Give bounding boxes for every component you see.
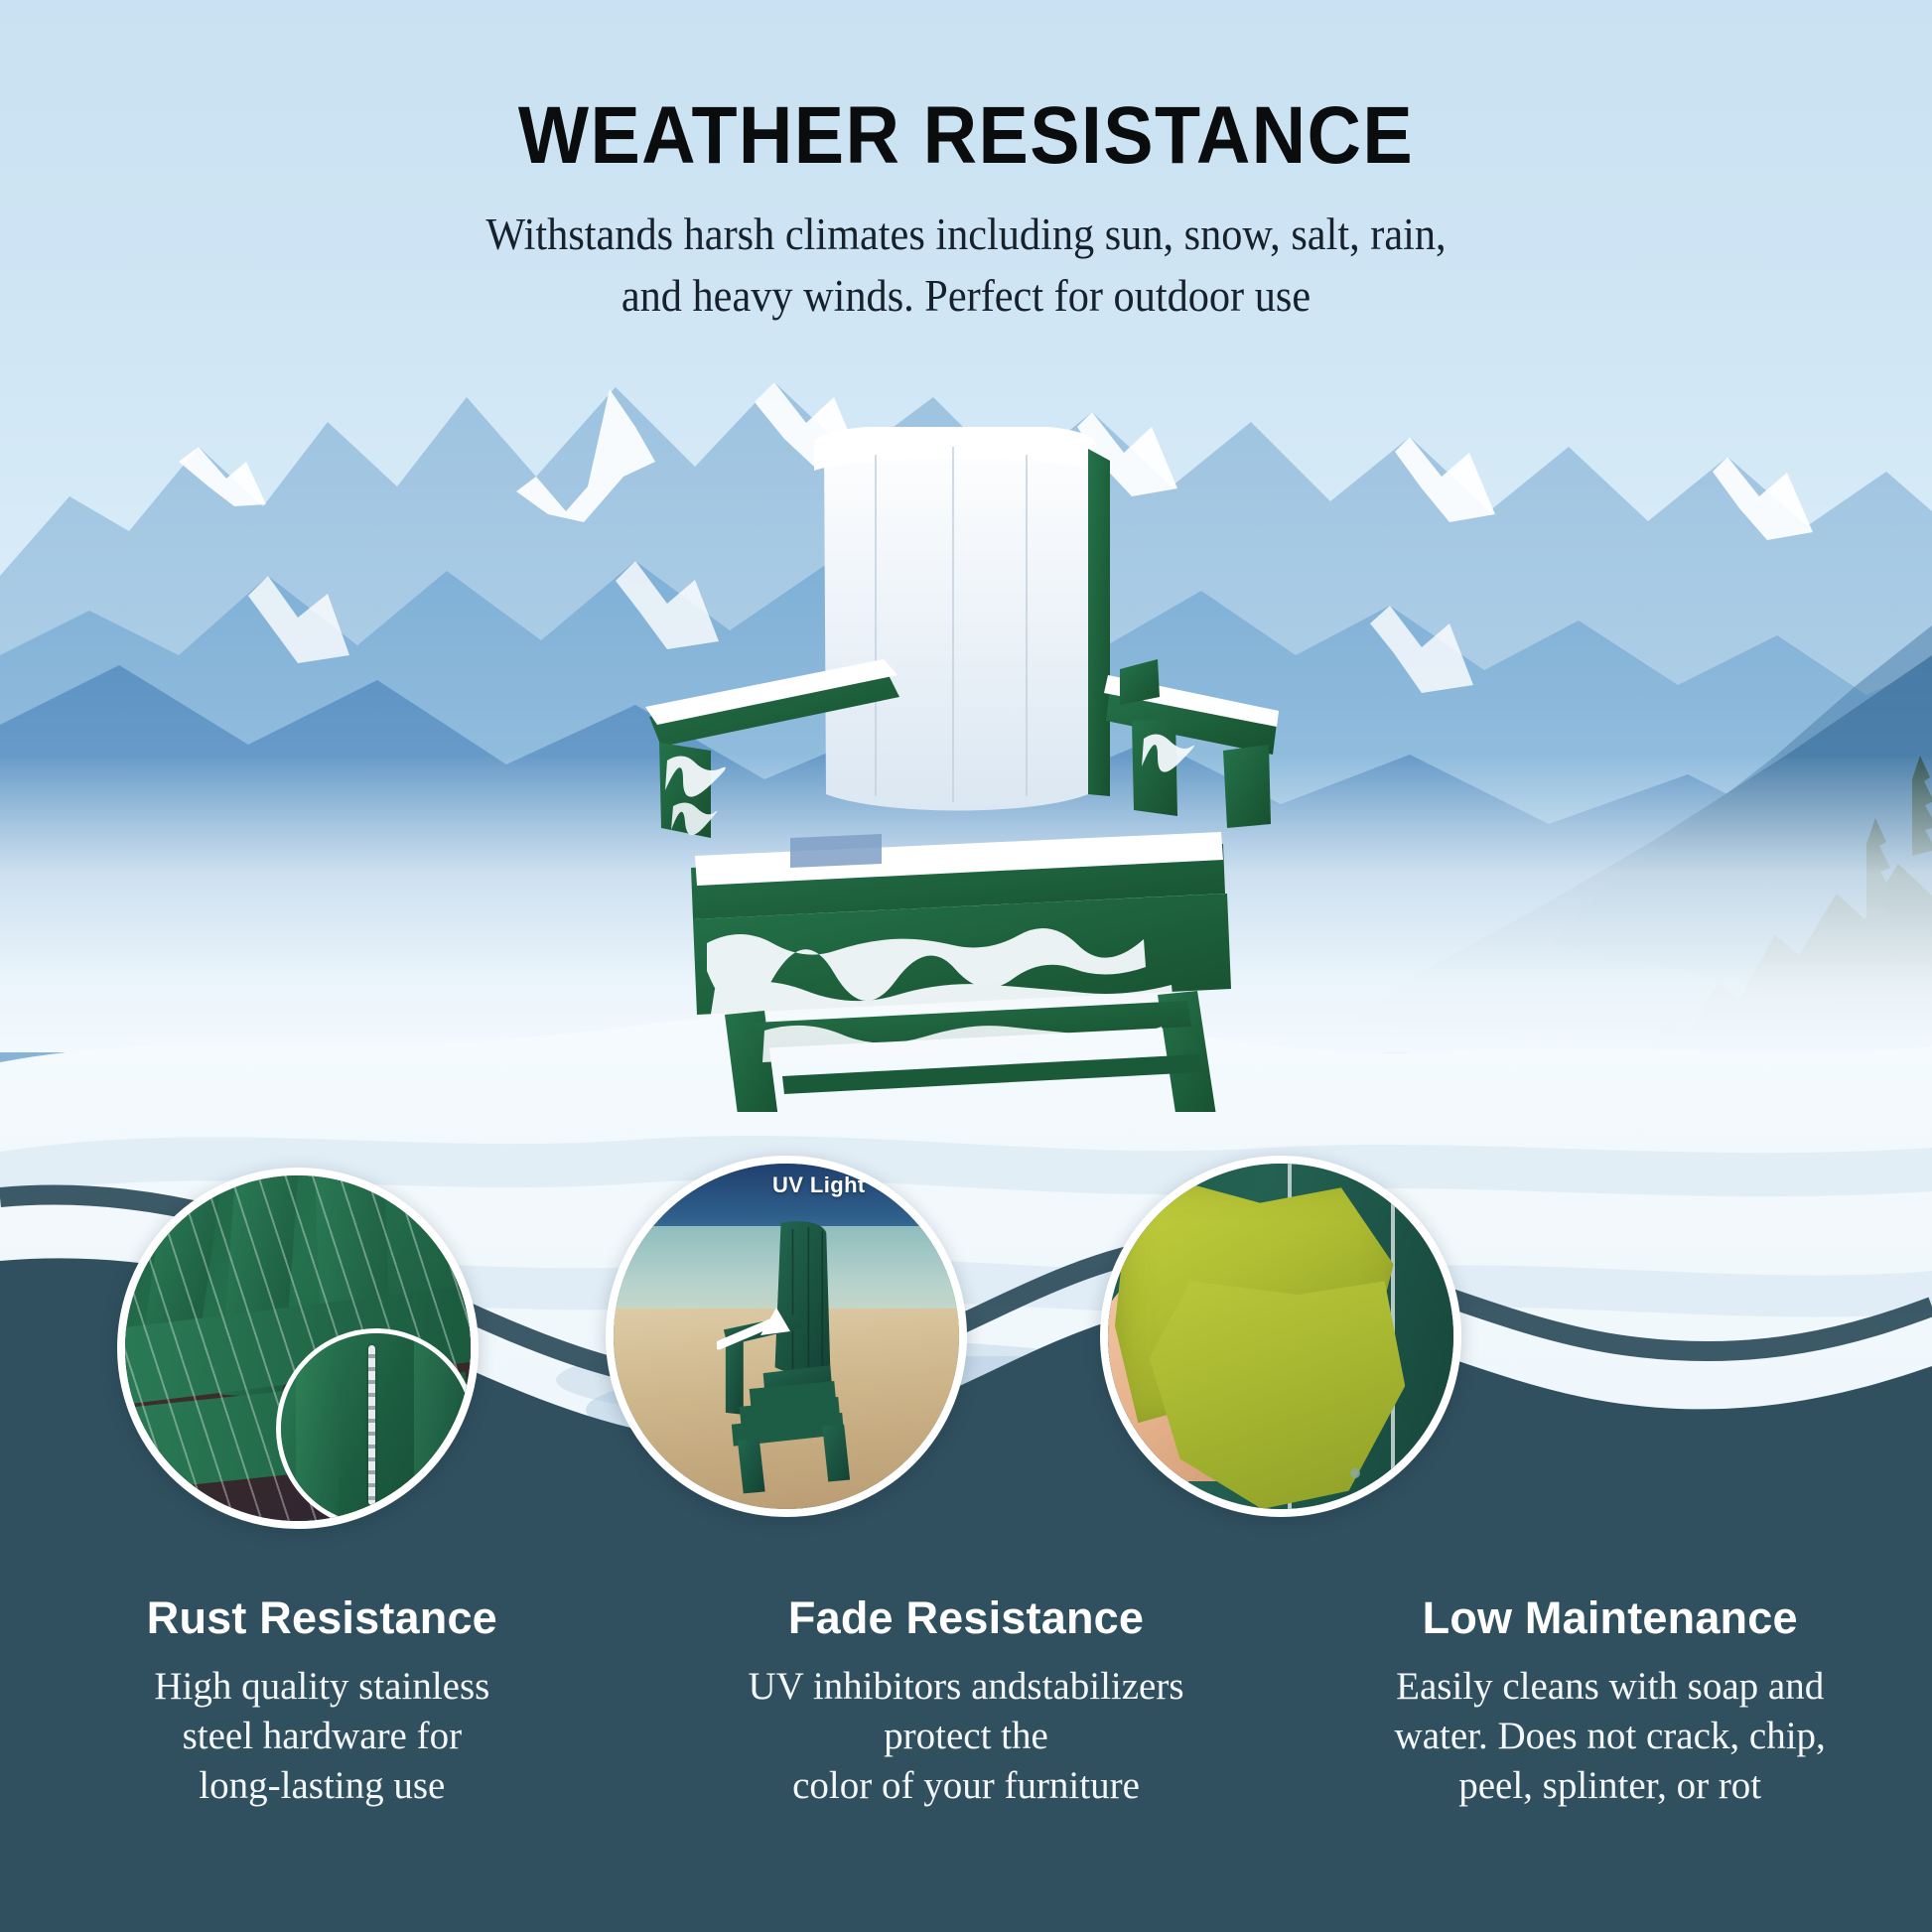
beach-chair-uv-icon: UV Light <box>614 1164 959 1509</box>
feature-title: Low Maintenance <box>1321 1592 1898 1644</box>
feature-description: UV inhibitors andstabilizers protect the… <box>678 1662 1255 1811</box>
feature-image-low-maintenance <box>1100 1156 1461 1517</box>
subtitle-line-2: and heavy winds. Perfect for outdoor use <box>58 265 1873 327</box>
feature-desc-line-1: Easily cleans with soap and <box>1321 1662 1898 1712</box>
feature-title: Rust Resistance <box>34 1592 611 1644</box>
feature-desc-line-3: long-lasting use <box>34 1761 611 1811</box>
infographic-canvas: WEATHER RESISTANCE Withstands harsh clim… <box>0 0 1932 1932</box>
feature-image-fade-resistance: UV Light <box>606 1156 967 1517</box>
hand-wiping-cloth-icon <box>1108 1164 1453 1509</box>
feature-desc-line-3: color of your furniture <box>678 1761 1255 1811</box>
feature-card-low-maintenance: Low Maintenance Easily cleans with soap … <box>1288 1592 1932 1811</box>
feature-list: Rust Resistance High quality stainless s… <box>0 1592 1932 1811</box>
page-title: WEATHER RESISTANCE <box>77 0 1855 178</box>
feature-card-fade-resistance: Fade Resistance UV inhibitors andstabili… <box>644 1592 1289 1811</box>
feature-card-rust-resistance: Rust Resistance High quality stainless s… <box>0 1592 644 1811</box>
uv-arrow-icon <box>717 1302 802 1353</box>
feature-desc-line-1: High quality stainless <box>34 1662 611 1712</box>
feature-desc-line-3: peel, splinter, or rot <box>1321 1761 1898 1811</box>
feature-desc-line-2: steel hardware for <box>34 1712 611 1761</box>
feature-description: Easily cleans with soap and water. Does … <box>1321 1662 1898 1811</box>
feature-title: Fade Resistance <box>678 1592 1255 1644</box>
feature-desc-line-1: UV inhibitors andstabilizers <box>678 1662 1255 1712</box>
stainless-chain-inset-icon <box>276 1328 477 1529</box>
feature-image-rust-resistance <box>117 1168 479 1529</box>
feature-desc-line-2: water. Does not crack, chip, <box>1321 1712 1898 1761</box>
green-beach-chair-shape <box>703 1219 883 1495</box>
feature-desc-line-2: protect the <box>678 1712 1255 1761</box>
subtitle-line-1: Withstands harsh climates including sun,… <box>58 204 1873 265</box>
uv-light-label: UV Light <box>772 1173 921 1198</box>
page-subtitle: Withstands harsh climates including sun,… <box>58 178 1873 327</box>
header-block: WEATHER RESISTANCE Withstands harsh clim… <box>0 0 1932 327</box>
feature-description: High quality stainless steel hardware fo… <box>34 1662 611 1811</box>
snow-covered-adirondack-chair <box>616 427 1311 1112</box>
